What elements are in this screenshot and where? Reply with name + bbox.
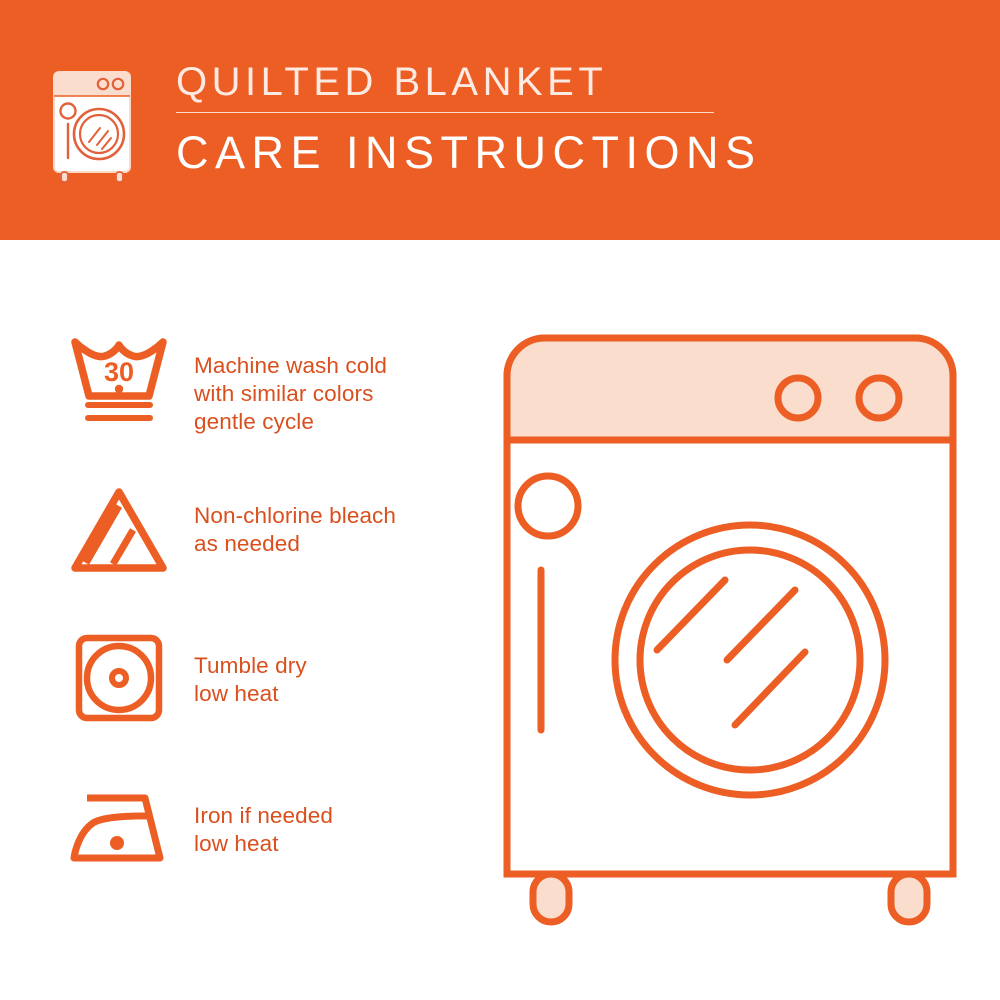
title-divider (176, 112, 714, 113)
icon-container (44, 480, 194, 576)
list-item: Iron if needed low heat (44, 780, 484, 930)
tumble-dry-low-icon (67, 634, 171, 726)
page-title-product: QUILTED BLANKET (176, 62, 762, 110)
list-item-label: Iron if needed low heat (194, 780, 333, 858)
wash-temperature-label: 30 (104, 357, 134, 387)
page-title-main: CARE INSTRUCTIONS (176, 117, 762, 175)
list-item: Tumble dry low heat (44, 630, 484, 780)
icon-container (44, 630, 194, 726)
header-title-group: QUILTED BLANKET CARE INSTRUCTIONS (176, 62, 762, 175)
iron-low-heat-icon (67, 784, 171, 876)
washing-machine-illustration (495, 330, 965, 930)
machine-wash-tub-icon: 30 (67, 334, 171, 426)
washing-machine-icon (44, 66, 148, 184)
list-item-label: Machine wash cold with similar colors ge… (194, 330, 387, 436)
list-item: Non-chlorine bleach as needed (44, 480, 484, 630)
list-item: 30 Machine wash cold with similar colors… (44, 330, 484, 480)
icon-container (44, 780, 194, 876)
header-band: QUILTED BLANKET CARE INSTRUCTIONS (0, 0, 1000, 240)
leg-right (891, 874, 927, 922)
header-content: QUILTED BLANKET CARE INSTRUCTIONS (44, 62, 762, 184)
care-instruction-list: 30 Machine wash cold with similar colors… (44, 330, 484, 930)
icon-container: 30 (44, 330, 194, 426)
leg-left (533, 874, 569, 922)
list-item-label: Tumble dry low heat (194, 630, 307, 708)
list-item-label: Non-chlorine bleach as needed (194, 480, 396, 558)
non-chlorine-bleach-triangle-icon (67, 484, 171, 576)
control-panel (507, 338, 953, 440)
